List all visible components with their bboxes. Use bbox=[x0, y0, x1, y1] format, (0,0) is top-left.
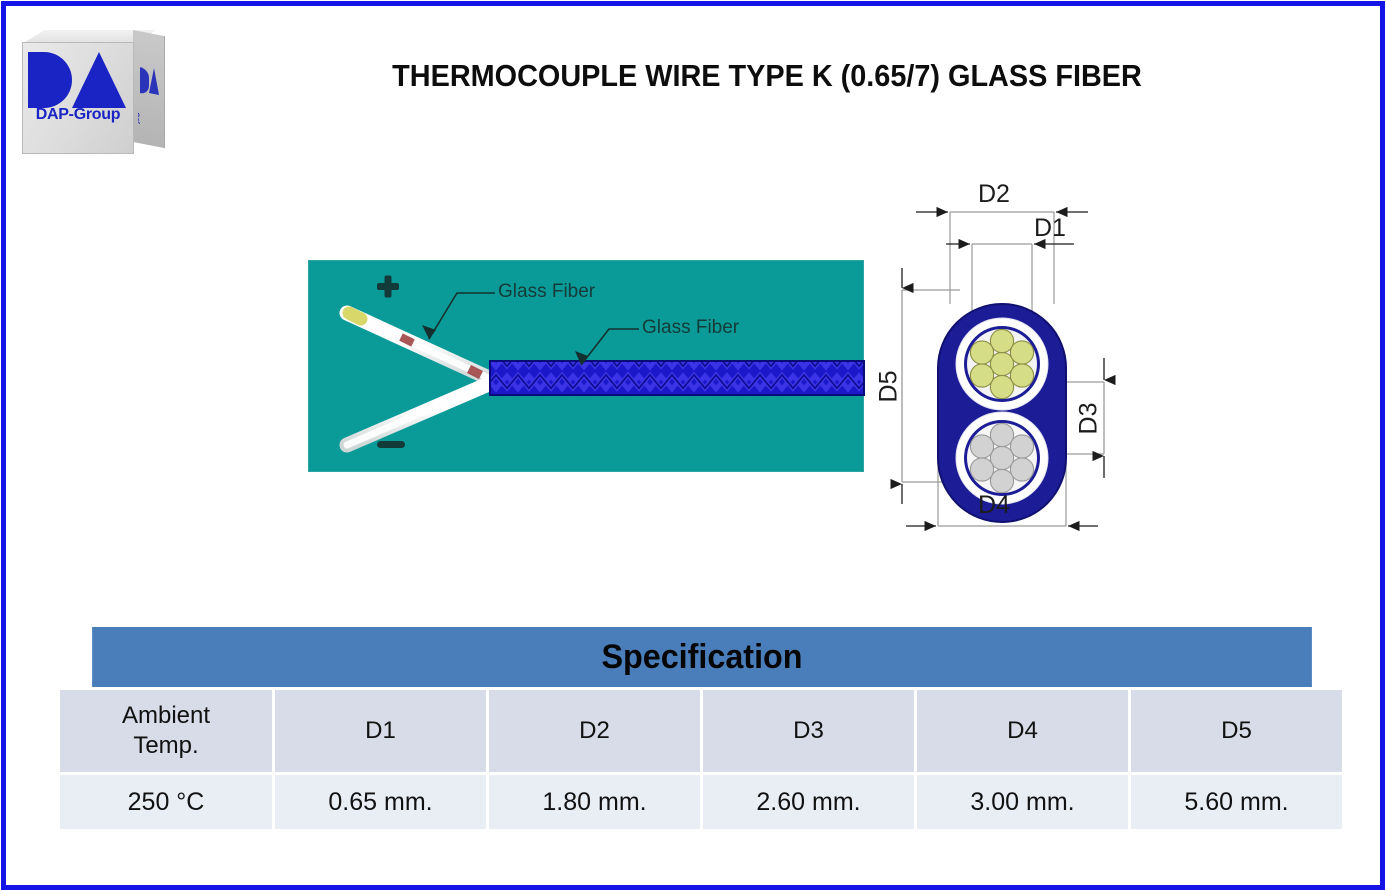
logo-side-letter-d bbox=[140, 67, 149, 95]
column-header-d3: D3 bbox=[703, 690, 914, 772]
specification-table: Specification Ambient Temp. D1 D2 D3 D4 … bbox=[60, 627, 1344, 829]
cross-section-drawing: D2 D1 D5 D3 D4 bbox=[882, 182, 1132, 542]
dimension-label-d2: D2 bbox=[978, 180, 1010, 209]
value-ambient-temp: 250 °C bbox=[60, 775, 272, 829]
logo-side-letter-a-triangle bbox=[149, 67, 159, 95]
value-d2: 1.80 mm. bbox=[489, 775, 700, 829]
dimension-label-d4: D4 bbox=[978, 491, 1010, 520]
dap-group-logo: DAP-Group DAP-Group bbox=[18, 20, 178, 168]
dimension-label-d3: D3 bbox=[1074, 403, 1103, 435]
logo-wordmark: DAP-Group bbox=[26, 106, 130, 124]
cross-section-svg bbox=[882, 182, 1132, 542]
dimension-label-d5: D5 bbox=[874, 371, 903, 403]
page-title: THERMOCOUPLE WIRE TYPE K (0.65/7) GLASS … bbox=[232, 58, 1302, 94]
column-header-d1: D1 bbox=[275, 690, 486, 772]
wire-illustration: Glass Fiber Glass Fiber bbox=[308, 260, 864, 472]
logo-side-mark: DAP-Group bbox=[138, 64, 160, 124]
label-leader-lines bbox=[429, 293, 639, 365]
conductor-positive bbox=[956, 318, 1048, 410]
value-d5: 5.60 mm. bbox=[1131, 775, 1342, 829]
glass-fiber-braid bbox=[490, 361, 864, 395]
logo-side-wordmark: DAP-Group bbox=[138, 92, 142, 123]
value-d4: 3.00 mm. bbox=[917, 775, 1128, 829]
column-header-d2: D2 bbox=[489, 690, 700, 772]
spec-table-title: Specification bbox=[92, 627, 1312, 687]
dimension-label-d1: D1 bbox=[1034, 214, 1066, 243]
glass-fiber-label-outer: Glass Fiber bbox=[498, 281, 595, 303]
polarity-plus-icon bbox=[377, 276, 399, 298]
glass-fiber-label-inner: Glass Fiber bbox=[642, 317, 739, 339]
leader-arrowhead-1 bbox=[422, 325, 436, 339]
negative-wire bbox=[347, 383, 491, 445]
value-d1: 0.65 mm. bbox=[275, 775, 486, 829]
column-header-d4: D4 bbox=[917, 690, 1128, 772]
column-header-ambient-temp: Ambient Temp. bbox=[60, 690, 272, 772]
spec-table-value-row: 250 °C 0.65 mm. 1.80 mm. 2.60 mm. 3.00 m… bbox=[60, 775, 1344, 829]
polarity-minus-icon bbox=[377, 441, 405, 448]
value-d3: 2.60 mm. bbox=[703, 775, 914, 829]
logo-mark-da bbox=[28, 52, 126, 108]
page-content: DAP-Group DAP-Group THERMOCOUPLE WIRE TY… bbox=[6, 6, 1380, 885]
positive-wire bbox=[347, 313, 491, 379]
logo-letter-a-triangle bbox=[72, 52, 126, 108]
datasheet-page: DAP-Group DAP-Group THERMOCOUPLE WIRE TY… bbox=[0, 0, 1386, 890]
spec-table-header-row: Ambient Temp. D1 D2 D3 D4 D5 bbox=[60, 690, 1344, 772]
logo-letter-d bbox=[28, 52, 72, 108]
column-header-d5: D5 bbox=[1131, 690, 1342, 772]
